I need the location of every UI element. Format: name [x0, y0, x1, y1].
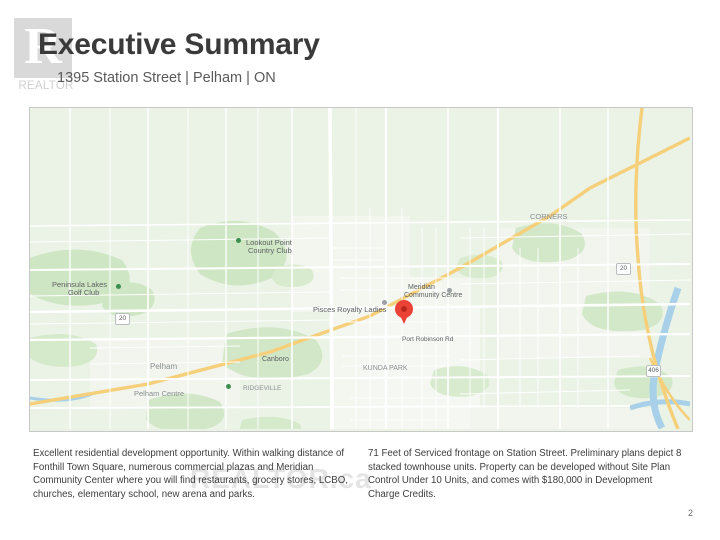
location-map[interactable]: CORNERSLookout PointCountry ClubPeninsul…: [29, 107, 693, 432]
poi-dot-meridian-centre[interactable]: [382, 300, 387, 305]
poi-dot-generic-1[interactable]: [447, 288, 452, 293]
poi-dot-peninsula-lakes[interactable]: [116, 284, 121, 289]
map-base-graphics: [30, 108, 690, 429]
map-canvas[interactable]: CORNERSLookout PointCountry ClubPeninsul…: [30, 108, 692, 431]
page-number: 2: [688, 508, 693, 518]
map-route-shield: 20: [616, 263, 631, 275]
page-subtitle: 1395 Station Street | Pelham | ON: [57, 70, 276, 86]
summary-paragraph-left: Excellent residential development opport…: [33, 447, 351, 501]
page-title: Executive Summary: [38, 28, 320, 62]
slide-page: R REALTOR Executive Summary 1395 Station…: [0, 0, 720, 540]
poi-dot-lookout-point[interactable]: [236, 238, 241, 243]
poi-dot-ridgeville-park[interactable]: [226, 384, 231, 389]
map-route-shield: 406: [646, 365, 661, 377]
marker-hole: [401, 306, 407, 312]
marker-tip: [399, 313, 409, 324]
summary-paragraph-right: 71 Feet of Serviced frontage on Station …: [368, 447, 686, 501]
property-location-marker[interactable]: [395, 300, 413, 326]
map-route-shield: 20: [115, 313, 130, 325]
